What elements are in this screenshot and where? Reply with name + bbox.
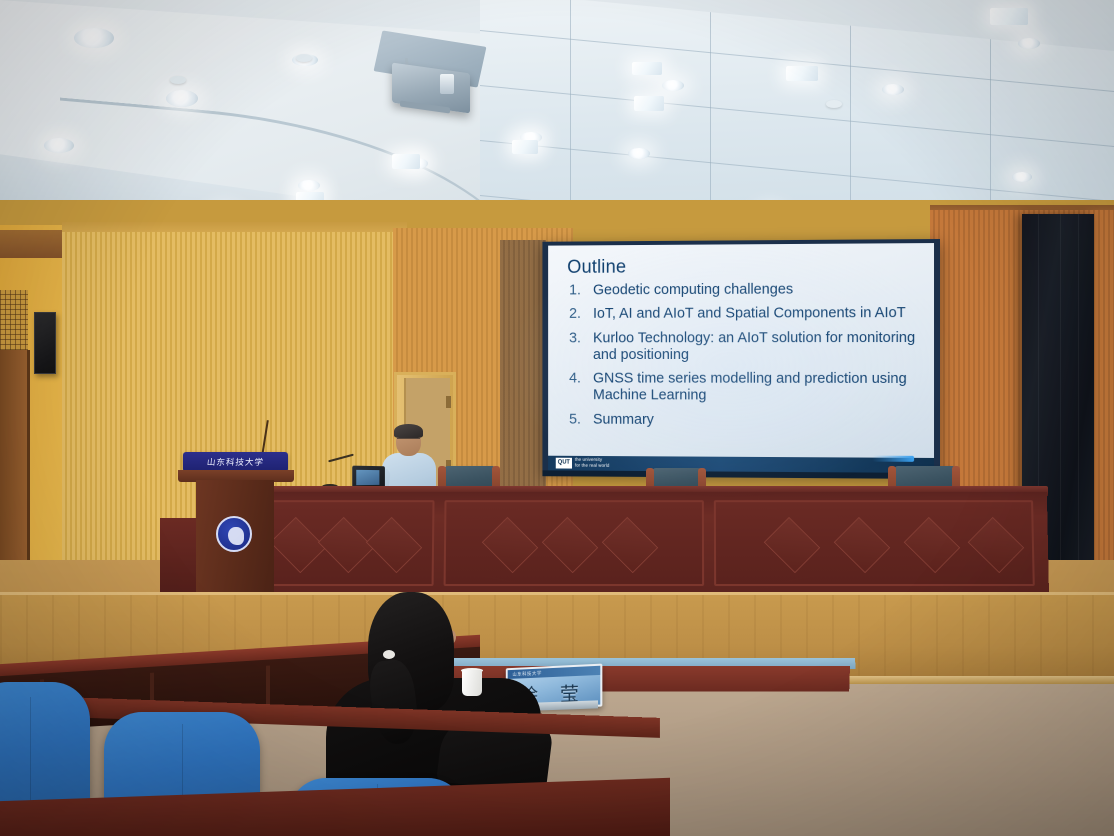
slide-list-item: 5. Summary: [569, 412, 926, 430]
slide-item-text: Geodetic computing challenges: [593, 281, 926, 299]
slide-item-number: 3.: [569, 330, 584, 347]
slide-accent-bar: [872, 456, 914, 462]
ceiling-light-square: [632, 62, 662, 75]
glasses-icon: [397, 438, 420, 442]
left-wall-header-trim: [0, 230, 62, 258]
university-seal-icon: [216, 516, 252, 552]
ceiling-light-square: [392, 154, 420, 169]
panel-diamond-motif: [834, 517, 890, 573]
smoke-detector-icon: [826, 100, 842, 108]
slide-item-text: Kurloo Technology: an AIoT solution for …: [593, 330, 926, 365]
slide-list-item: 4. GNSS time series modelling and predic…: [569, 371, 926, 406]
slide-item-number: 4.: [569, 371, 584, 388]
projector-lens: [440, 74, 454, 94]
panel-diamond-motif: [366, 517, 422, 573]
slide-list-item: 1. Geodetic computing challenges: [569, 281, 926, 300]
slide-item-number: 2.: [569, 306, 584, 323]
panel-diamond-motif: [904, 517, 960, 573]
lecture-hall-scene: Outline 1. Geodetic computing challenges…: [0, 0, 1114, 836]
head-table-panel: [444, 500, 705, 586]
panel-diamond-motif: [318, 517, 374, 573]
ceiling-light-round: [882, 84, 904, 95]
ceiling-light-round: [44, 138, 74, 153]
slide-outline-list: 1. Geodetic computing challenges 2. IoT,…: [569, 281, 926, 437]
panel-diamond-motif: [270, 517, 326, 573]
ceiling-light-square: [634, 96, 664, 111]
panel-diamond-motif: [542, 517, 598, 573]
head-table-panel: [714, 500, 1035, 586]
podium-sign-text: 山东科技大学: [182, 452, 289, 472]
head-table-panel: [253, 500, 434, 586]
ceiling-light-round: [74, 28, 114, 48]
panel-diamond-motif: [482, 517, 538, 573]
ceiling-light-round: [1018, 38, 1040, 49]
slide-item-text: GNSS time series modelling and predictio…: [593, 371, 926, 406]
ceiling-light-round: [298, 180, 320, 191]
qut-tagline-line2: for the real world: [575, 462, 609, 468]
slide-list-item: 3. Kurloo Technology: an AIoT solution f…: [569, 330, 926, 365]
smoke-detector-icon: [170, 76, 186, 84]
ceiling-light-round: [166, 90, 198, 107]
qut-logo: QUT: [556, 458, 572, 469]
panel-diamond-motif: [602, 517, 658, 573]
slide-surface: Outline 1. Geodetic computing challenges…: [548, 243, 934, 458]
laptop-display: [356, 470, 379, 485]
qut-tagline: the university for the real world: [575, 457, 609, 468]
ceiling-light-round: [628, 148, 650, 159]
paper-cup: [462, 670, 482, 696]
panel-diamond-motif: [968, 517, 1024, 573]
projection-screen: Outline 1. Geodetic computing challenges…: [542, 239, 940, 477]
slide-item-number: 1.: [569, 283, 584, 300]
presenter-hair: [394, 424, 423, 438]
door-hinge: [446, 396, 451, 408]
side-door[interactable]: [0, 350, 30, 580]
ceiling-light-round: [1012, 172, 1032, 182]
ceiling-light-square: [786, 66, 818, 81]
slide-item-text: Summary: [593, 412, 926, 430]
smoke-detector-icon: [296, 54, 312, 62]
ceiling-light-round: [662, 80, 684, 91]
ceiling-light-square: [990, 8, 1028, 25]
hair-tie: [383, 650, 395, 659]
slide-title: Outline: [567, 257, 626, 279]
slide-list-item: 2. IoT, AI and AIoT and Spatial Componen…: [569, 305, 926, 323]
slide-item-number: 5.: [569, 412, 584, 429]
slide-item-text: IoT, AI and AIoT and Spatial Components …: [593, 305, 926, 323]
head-table: [247, 492, 1049, 602]
podium-sign: 山东科技大学: [183, 452, 288, 472]
panel-diamond-motif: [764, 517, 820, 573]
wall-speaker: [34, 312, 56, 374]
ceiling-light-square: [512, 140, 538, 154]
